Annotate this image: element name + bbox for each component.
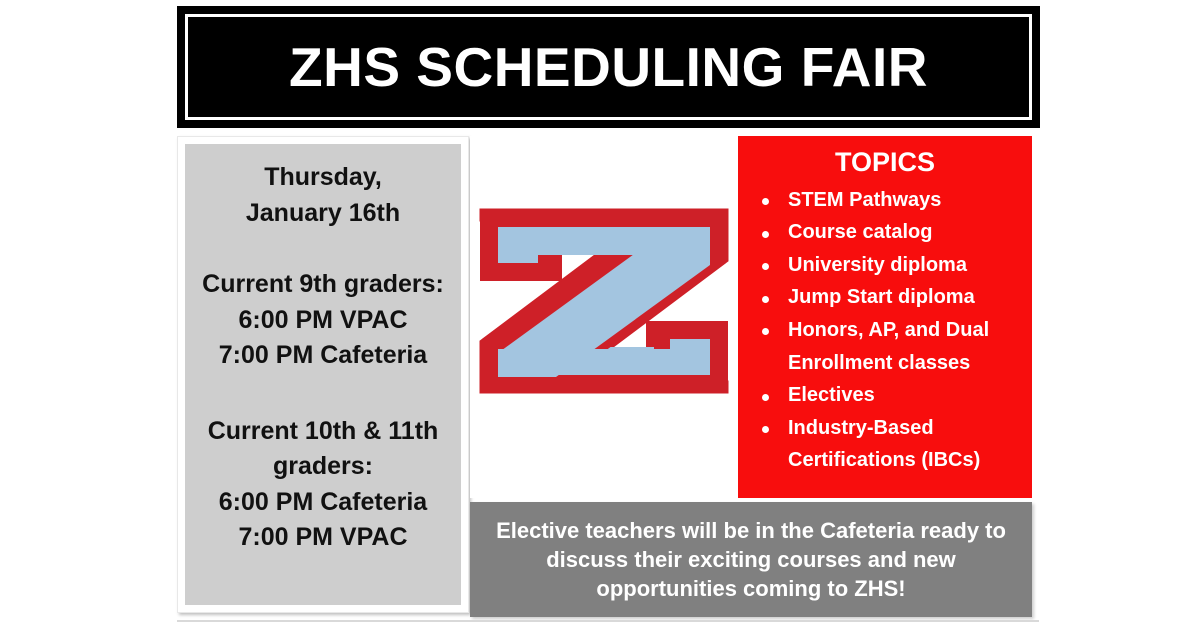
list-item-continuation: Certifications (IBCs)	[754, 444, 1026, 477]
topic-label: STEM Pathways	[788, 189, 941, 211]
topic-label-continuation: Enrollment classes	[788, 352, 970, 374]
grade-group-1-time-2: 7:00 PM Cafeteria	[191, 338, 455, 374]
grade-group-2-heading-line-1: Current 10th & 11th	[191, 414, 455, 450]
topic-label: University diploma	[788, 254, 967, 276]
schedule-panel-inner: Thursday, January 16th Current 9th grade…	[185, 144, 461, 605]
grade-group-2-time-1: 6:00 PM Cafeteria	[191, 485, 455, 521]
event-date-line-2: January 16th	[191, 196, 455, 232]
title-banner-frame: ZHS SCHEDULING FAIR	[185, 14, 1032, 120]
schedule-spacer-2	[191, 374, 455, 414]
list-item: University diploma	[754, 249, 1026, 282]
bullet-icon	[762, 263, 769, 270]
zhs-z-logo-icon	[476, 205, 732, 397]
note-banner: Elective teachers will be in the Cafeter…	[470, 502, 1032, 617]
schedule-spacer-1	[191, 231, 455, 267]
title-banner: ZHS SCHEDULING FAIR	[177, 6, 1040, 128]
list-item: Course catalog	[754, 216, 1026, 249]
poster-root: ZHS SCHEDULING FAIR Thursday, January 16…	[0, 0, 1200, 628]
schedule-panel: Thursday, January 16th Current 9th grade…	[177, 136, 469, 613]
grade-group-2-time-2: 7:00 PM VPAC	[191, 520, 455, 556]
list-item: Industry-Based	[754, 412, 1026, 445]
bullet-icon	[762, 198, 769, 205]
topic-label: Electives	[788, 384, 875, 406]
list-item: Honors, AP, and Dual	[754, 314, 1026, 347]
page-title: ZHS SCHEDULING FAIR	[289, 40, 928, 95]
event-date-line-1: Thursday,	[191, 160, 455, 196]
grade-group-2-heading-line-2: graders:	[191, 449, 455, 485]
bullet-icon	[762, 426, 769, 433]
base-divider	[177, 620, 1039, 622]
topics-list: STEM Pathways Course catalog University …	[744, 184, 1026, 477]
list-item-continuation: Enrollment classes	[754, 347, 1026, 380]
list-item: STEM Pathways	[754, 184, 1026, 217]
topic-label: Course catalog	[788, 221, 932, 243]
bullet-icon	[762, 394, 769, 401]
list-item: Jump Start diploma	[754, 281, 1026, 314]
bullet-icon	[762, 231, 769, 238]
grade-group-1-heading: Current 9th graders:	[191, 267, 455, 303]
bullet-icon	[762, 296, 769, 303]
topic-label: Industry-Based	[788, 417, 934, 439]
list-item: Electives	[754, 379, 1026, 412]
topic-label: Honors, AP, and Dual	[788, 319, 989, 341]
topics-panel: TOPICS STEM Pathways Course catalog Univ…	[738, 136, 1032, 498]
logo-area	[470, 136, 738, 498]
grade-group-1-time-1: 6:00 PM VPAC	[191, 303, 455, 339]
topic-label-continuation: Certifications (IBCs)	[788, 449, 980, 471]
note-text: Elective teachers will be in the Cafeter…	[470, 516, 1032, 603]
bullet-icon	[762, 328, 769, 335]
topic-label: Jump Start diploma	[788, 286, 975, 308]
topics-heading: TOPICS	[744, 148, 1026, 178]
